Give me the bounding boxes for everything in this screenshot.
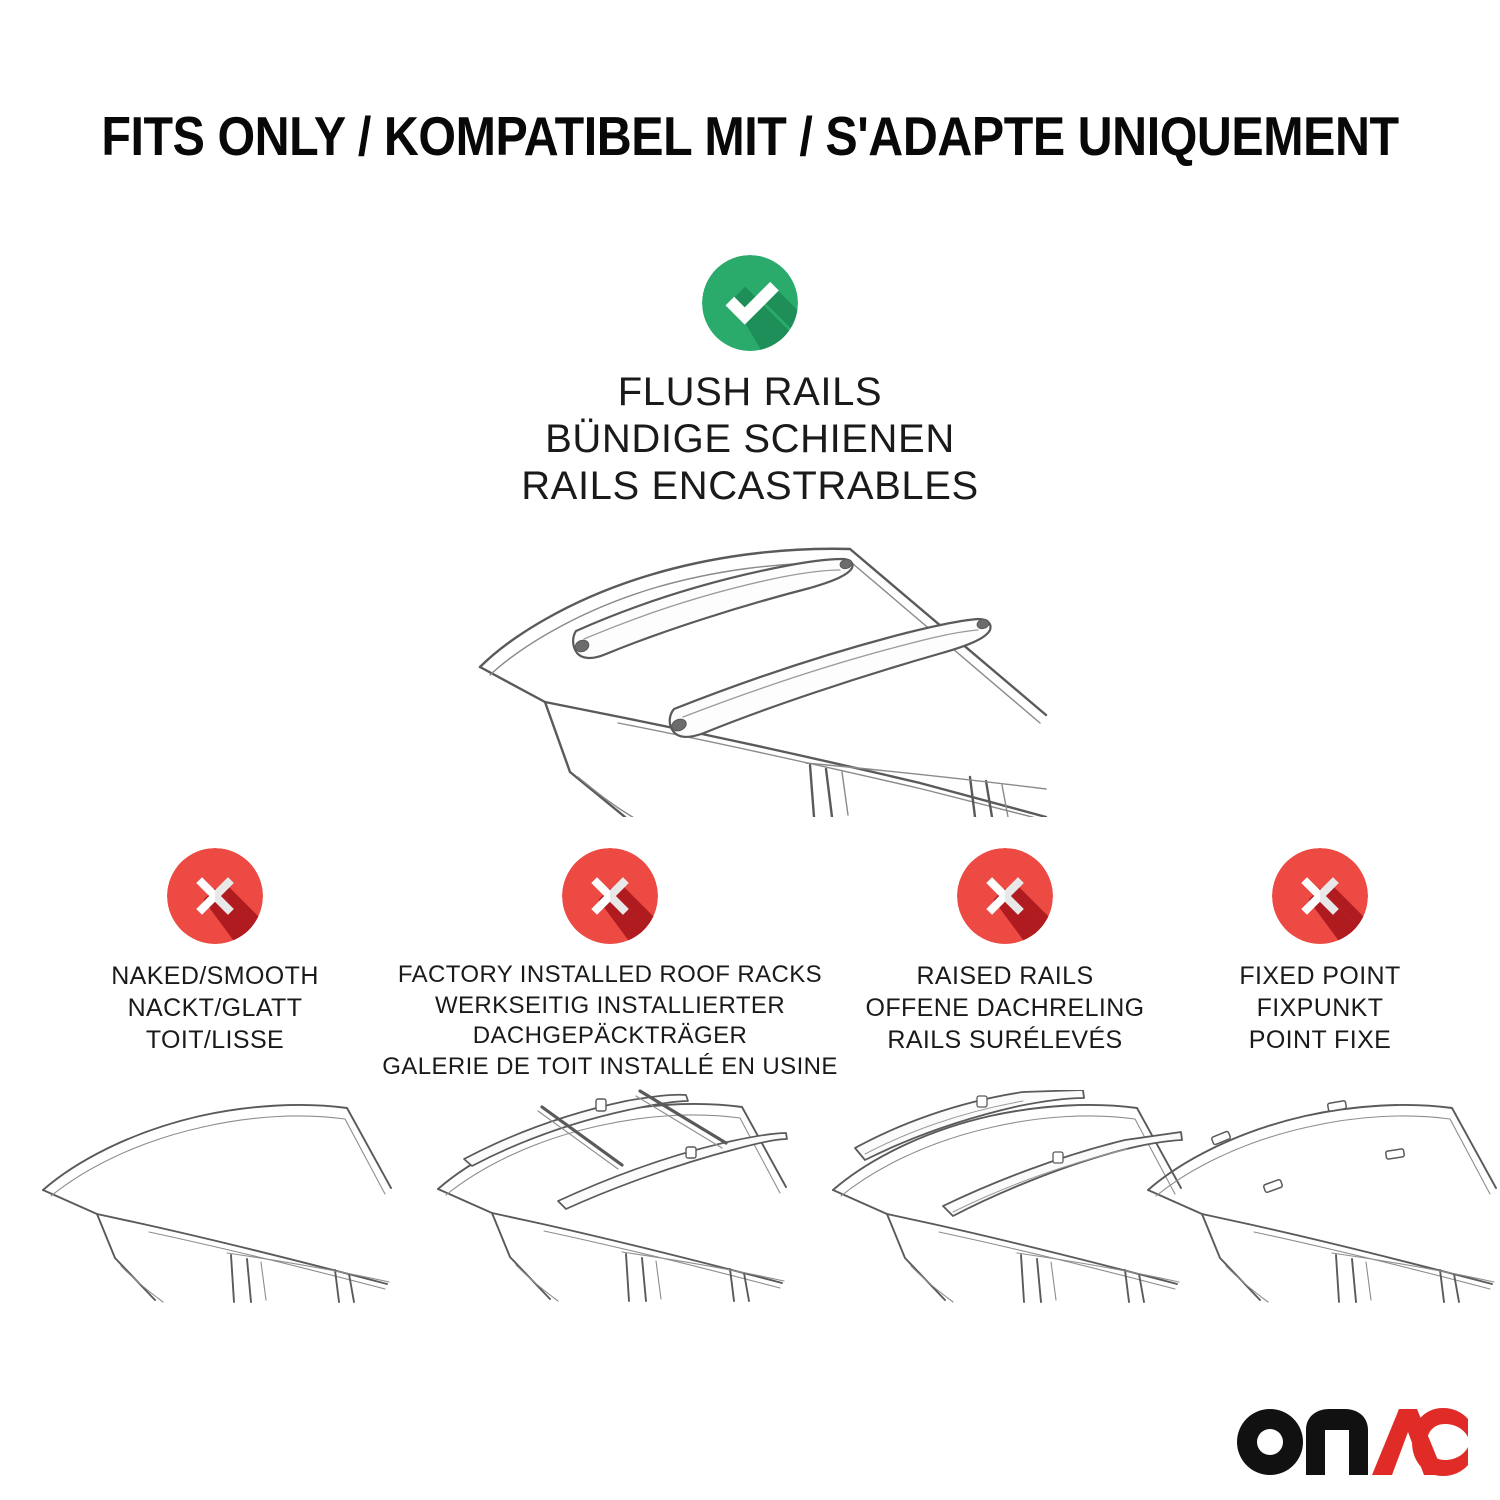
incompatible-labels: FIXED POINT FIXPUNKT POINT FIXE (1239, 960, 1400, 1056)
label-de-1: WERKSEITIG INSTALLIERTER (382, 991, 838, 1022)
car-roof-with-flush-rails-illustration (450, 527, 1050, 817)
car-roof-fixed-point-illustration (1140, 1090, 1500, 1320)
label-fr: RAILS SURÉLEVÉS (865, 1024, 1144, 1056)
compatible-section: FLUSH RAILS BÜNDIGE SCHIENEN RAILS ENCAS… (0, 255, 1500, 817)
incompatible-labels: RAISED RAILS OFFENE DACHRELING RAILS SUR… (865, 960, 1144, 1056)
incompatible-option-factory-roof-racks: FACTORY INSTALLED ROOF RACKS WERKSEITIG … (380, 848, 840, 1319)
incompatible-option-naked-smooth: NAKED/SMOOTH NACKT/GLATT TOIT/LISSE (50, 848, 380, 1320)
label-en: RAISED RAILS (865, 960, 1144, 992)
red-x-circle-icon (957, 848, 1053, 944)
incompatible-labels: FACTORY INSTALLED ROOF RACKS WERKSEITIG … (382, 960, 838, 1083)
green-check-circle-icon (702, 255, 798, 351)
label-de-2: DACHGEPÄCKTRÄGER (382, 1021, 838, 1052)
label-en: FIXED POINT (1239, 960, 1400, 992)
red-x-circle-icon (1272, 848, 1368, 944)
compatible-label-fr: RAILS ENCASTRABLES (521, 463, 979, 510)
label-en: NAKED/SMOOTH (111, 960, 319, 992)
label-de: OFFENE DACHRELING (865, 992, 1144, 1024)
label-fr: GALERIE DE TOIT INSTALLÉ EN USINE (382, 1052, 838, 1083)
compatible-labels: FLUSH RAILS BÜNDIGE SCHIENEN RAILS ENCAS… (521, 369, 979, 511)
red-x-circle-icon (562, 848, 658, 944)
incompatible-option-raised-rails: RAISED RAILS OFFENE DACHRELING RAILS SUR… (840, 848, 1170, 1320)
label-fr: TOIT/LISSE (111, 1024, 319, 1056)
incompatible-section: NAKED/SMOOTH NACKT/GLATT TOIT/LISSE (0, 848, 1500, 1320)
car-roof-raised-rails-illustration (825, 1090, 1185, 1320)
incompatible-labels: NAKED/SMOOTH NACKT/GLATT TOIT/LISSE (111, 960, 319, 1056)
compatible-label-en: FLUSH RAILS (521, 369, 979, 416)
car-roof-factory-roof-racks-illustration (430, 1089, 790, 1319)
car-roof-naked-smooth-illustration (35, 1090, 395, 1320)
label-de: NACKT/GLATT (111, 992, 319, 1024)
page-title: FITS ONLY / KOMPATIBEL MIT / S'ADAPTE UN… (90, 104, 1410, 168)
compatible-label-de: BÜNDIGE SCHIENEN (521, 416, 979, 463)
label-en: FACTORY INSTALLED ROOF RACKS (382, 960, 838, 991)
omac-logo (1236, 1406, 1468, 1478)
incompatible-option-fixed-point: FIXED POINT FIXPUNKT POINT FIXE (1170, 848, 1470, 1320)
label-de: FIXPUNKT (1239, 992, 1400, 1024)
red-x-circle-icon (167, 848, 263, 944)
label-fr: POINT FIXE (1239, 1024, 1400, 1056)
